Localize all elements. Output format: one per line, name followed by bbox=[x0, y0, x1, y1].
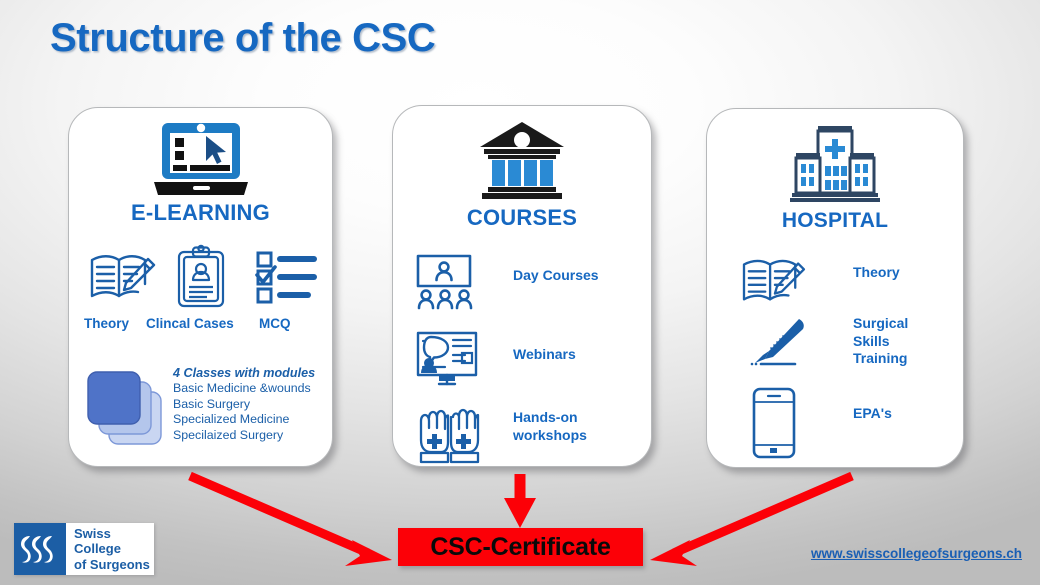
logo-line1: Swiss College bbox=[74, 526, 154, 557]
row-label-theory: Theory bbox=[853, 264, 900, 282]
module-item: Specilaized Surgery bbox=[173, 428, 315, 443]
open-book-pencil-icon bbox=[739, 251, 807, 309]
hospital-building-icon bbox=[788, 123, 882, 203]
clipboard-person-icon bbox=[172, 245, 230, 309]
sub-label-theory: Theory bbox=[84, 316, 129, 331]
certificate-label: CSC-Certificate bbox=[430, 533, 610, 562]
module-item: Specialized Medicine bbox=[173, 412, 315, 427]
modules-block: 4 Classes with modules Basic Medicine &w… bbox=[83, 366, 329, 456]
sub-label-clincal-cases: Clincal Cases bbox=[146, 316, 234, 331]
scalpel-icon bbox=[743, 317, 813, 373]
row-label-surgical-skills-training: Surgical Skills Training bbox=[853, 315, 908, 368]
surgical-gloves-icon bbox=[417, 404, 481, 466]
elearning-sub-icons bbox=[69, 246, 332, 318]
module-item: Basic Surgery bbox=[173, 397, 315, 412]
stacked-cards-icon bbox=[83, 368, 165, 448]
slide-canvas: Structure of the CSC E-LEARNING bbox=[0, 0, 1040, 585]
institution-building-icon bbox=[478, 120, 566, 200]
smartphone-icon bbox=[751, 387, 797, 459]
modules-heading: 4 Classes with modules bbox=[173, 366, 315, 381]
card-title-hospital: HOSPITAL bbox=[707, 209, 963, 233]
monitor-speech-bubble-icon bbox=[415, 331, 479, 387]
row-label-hands-on-workshops: Hands-on workshops bbox=[513, 409, 587, 444]
card-hospital[interactable]: HOSPITAL Theory bbox=[706, 108, 964, 468]
website-url-link[interactable]: www.swisscollegeofsurgeons.ch bbox=[811, 546, 1022, 561]
row-label-line3: Training bbox=[853, 350, 907, 366]
card-elearning[interactable]: E-LEARNING bbox=[68, 107, 333, 467]
row-label-line1: Surgical bbox=[853, 315, 908, 331]
row-label-line2: Skills bbox=[853, 333, 890, 349]
module-item: Basic Medicine &wounds bbox=[173, 381, 315, 396]
card-courses[interactable]: COURSES Day Courses bbox=[392, 105, 652, 467]
swiss-college-logo[interactable]: Swiss College of Surgeons bbox=[14, 523, 154, 575]
modules-text: 4 Classes with modules Basic Medicine &w… bbox=[173, 366, 315, 443]
scs-monogram-icon bbox=[14, 523, 66, 575]
row-label-webinars: Webinars bbox=[513, 346, 576, 364]
card-title-elearning: E-LEARNING bbox=[69, 200, 332, 226]
row-label-day-courses: Day Courses bbox=[513, 267, 599, 285]
csc-certificate-box[interactable]: CSC-Certificate bbox=[398, 528, 643, 566]
presentation-audience-icon bbox=[415, 254, 477, 310]
logo-text: Swiss College of Surgeons bbox=[66, 523, 154, 575]
page-title: Structure of the CSC bbox=[50, 16, 435, 61]
arrow-courses-to-certificate bbox=[504, 474, 536, 528]
logo-line2: of Surgeons bbox=[74, 557, 154, 573]
row-label-line1: Hands-on bbox=[513, 409, 578, 425]
checklist-icon bbox=[256, 250, 318, 304]
row-label-epas: EPA's bbox=[853, 405, 892, 423]
row-label-line2: workshops bbox=[513, 427, 587, 443]
arrow-elearning-to-certificate bbox=[190, 476, 392, 566]
laptop-icon bbox=[151, 122, 251, 198]
card-title-courses: COURSES bbox=[393, 205, 651, 231]
open-book-pencil-icon bbox=[87, 246, 157, 306]
sub-label-mcq: MCQ bbox=[259, 316, 291, 331]
